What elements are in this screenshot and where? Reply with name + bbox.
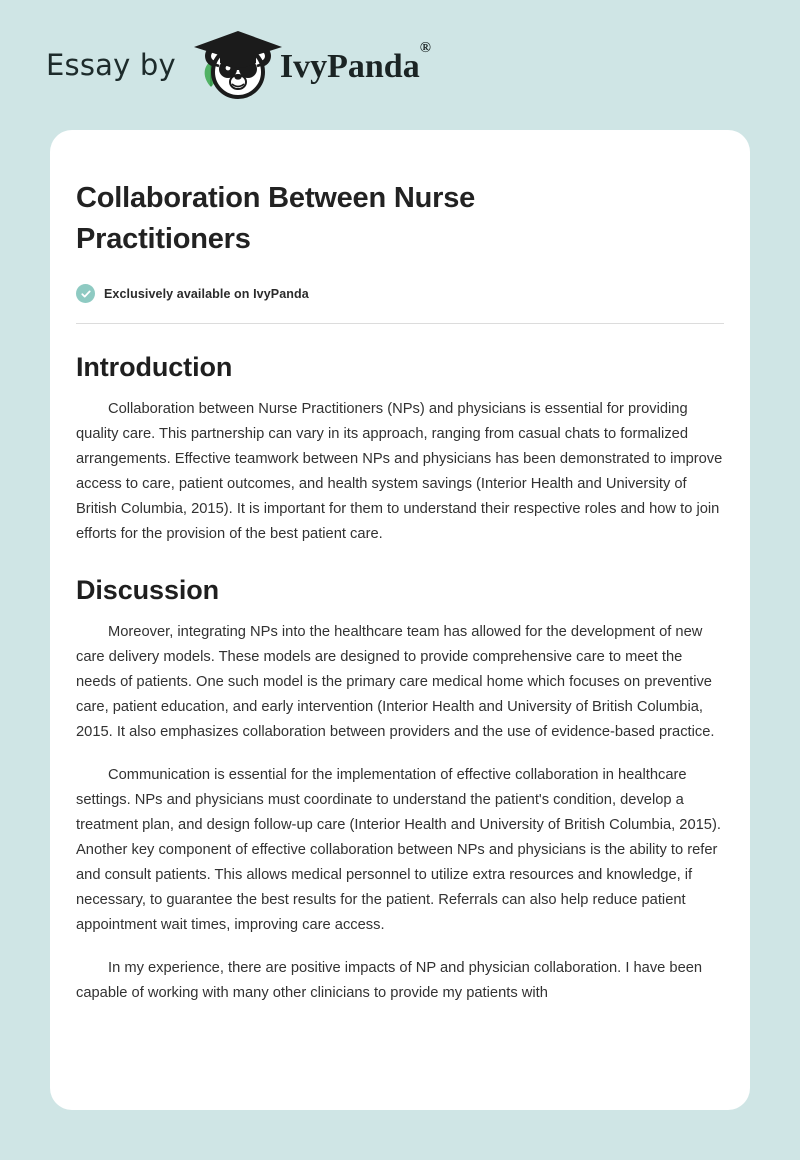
brand-header: Essay by (0, 0, 800, 130)
essay-by-label: Essay by (46, 51, 176, 80)
paragraph: In my experience, there are positive imp… (76, 956, 724, 1006)
section-heading-discussion: Discussion (76, 575, 722, 606)
trademark-symbol: ® (420, 40, 431, 56)
brand-name-text: IvyPanda (280, 48, 420, 85)
brand-wordmark: IvyPanda® (280, 50, 431, 84)
essay-paper-card: Collaboration Between Nurse Practitioner… (50, 130, 750, 1110)
exclusive-availability-badge: Exclusively available on IvyPanda (76, 284, 722, 303)
section-heading-introduction: Introduction (76, 352, 722, 383)
paragraph: Communication is essential for the imple… (76, 763, 724, 938)
page-title: Collaboration Between Nurse Practitioner… (76, 178, 636, 260)
ivypanda-logo[interactable]: IvyPanda® (190, 27, 431, 103)
badge-label: Exclusively available on IvyPanda (104, 287, 309, 301)
paragraph: Moreover, integrating NPs into the healt… (76, 620, 724, 745)
paragraph: Collaboration between Nurse Practitioner… (76, 397, 724, 547)
check-circle-icon (76, 284, 95, 303)
panda-graduate-logo-icon (190, 27, 286, 103)
header-divider (76, 323, 724, 324)
